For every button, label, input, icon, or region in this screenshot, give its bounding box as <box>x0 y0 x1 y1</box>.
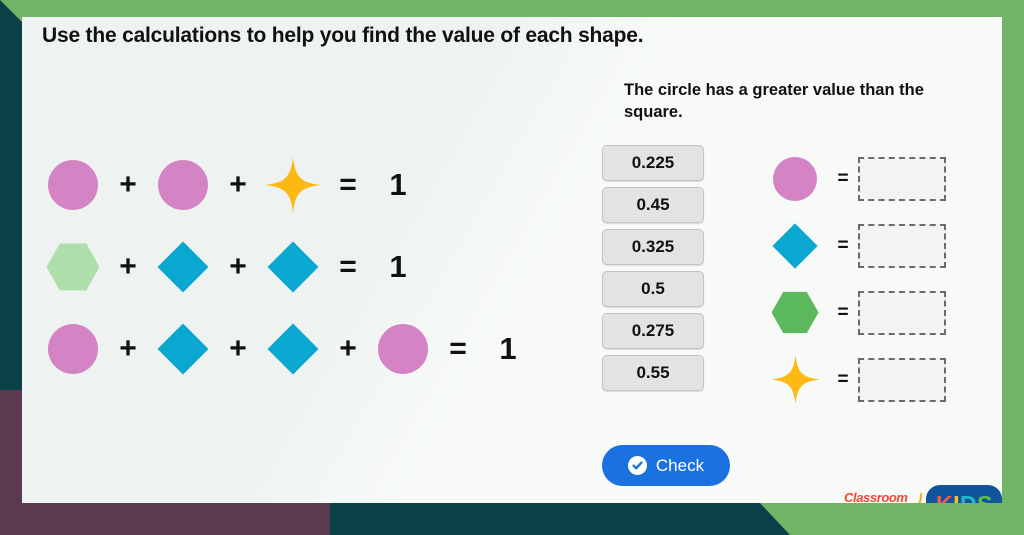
answer-row: = <box>762 346 946 413</box>
kids-letter-k: K <box>936 491 952 504</box>
equals-operator: = <box>828 235 858 257</box>
logo-group: Classroom secrets ✦ K I D S <box>842 485 1002 503</box>
answer-row: = <box>762 145 946 212</box>
answer-drop-box[interactable] <box>858 157 946 201</box>
answer-row: = <box>762 212 946 279</box>
circle-shape <box>158 160 208 210</box>
plus-operator: + <box>106 252 150 282</box>
diamond-shape <box>165 249 201 285</box>
equation-result: 1 <box>370 167 426 203</box>
number-tile[interactable]: 0.275 <box>602 313 704 349</box>
equation-term <box>150 316 216 382</box>
answer-shape <box>762 283 828 343</box>
equation-row: ++=1 <box>40 226 620 308</box>
classroom-secrets-logo: Classroom secrets ✦ <box>842 487 920 503</box>
plus-operator: + <box>216 334 260 364</box>
star-shape <box>771 355 820 404</box>
circle-shape <box>48 160 98 210</box>
number-tile[interactable]: 0.45 <box>602 187 704 223</box>
answer-drop-box[interactable] <box>858 291 946 335</box>
diamond-shape <box>779 230 811 262</box>
plus-operator: + <box>326 334 370 364</box>
number-tile[interactable]: 0.55 <box>602 355 704 391</box>
activity-card: Use the calculations to help you find th… <box>22 17 1002 503</box>
star-shape <box>265 157 321 213</box>
kids-letter-i: I <box>953 491 959 504</box>
diamond-shape <box>275 331 311 367</box>
check-circle-icon <box>628 456 647 475</box>
equals-operator: = <box>436 334 480 364</box>
page-title: Use the calculations to help you find th… <box>42 24 643 48</box>
diamond-shape <box>165 331 201 367</box>
number-tile[interactable]: 0.325 <box>602 229 704 265</box>
equation-term <box>260 152 326 218</box>
equals-operator: = <box>828 168 858 190</box>
equals-operator: = <box>326 252 370 282</box>
equation-result: 1 <box>480 331 536 367</box>
check-button[interactable]: Check <box>602 445 730 486</box>
slide-frame: Use the calculations to help you find th… <box>0 0 1024 535</box>
plus-operator: + <box>106 334 150 364</box>
answer-drop-box[interactable] <box>858 224 946 268</box>
equation-term <box>370 316 436 382</box>
number-tile[interactable]: 0.5 <box>602 271 704 307</box>
kids-letter-s: S <box>977 491 992 504</box>
equation-term <box>260 316 326 382</box>
frame-band-teal-bottom <box>330 503 790 535</box>
check-button-label: Check <box>656 456 704 476</box>
diamond-shape <box>275 249 311 285</box>
circle-shape <box>773 157 817 201</box>
kids-letter-d: D <box>960 491 976 504</box>
equation-term <box>40 152 106 218</box>
equals-operator: = <box>828 369 858 391</box>
plus-operator: + <box>216 170 260 200</box>
hexagon-shape <box>47 242 100 292</box>
equation-term <box>150 152 216 218</box>
number-tiles-list: 0.2250.450.3250.50.2750.55 <box>602 145 710 397</box>
circle-shape <box>48 324 98 374</box>
equation-term <box>40 234 106 300</box>
equation-result: 1 <box>370 249 426 285</box>
answer-shape <box>762 350 828 410</box>
equation-row: ++=1 <box>40 144 620 226</box>
answer-shape <box>762 216 828 276</box>
plus-operator: + <box>106 170 150 200</box>
equals-operator: = <box>828 302 858 324</box>
plus-operator: + <box>216 252 260 282</box>
answer-key-panel: ==== <box>762 145 946 413</box>
kids-logo: K I D S <box>926 485 1002 503</box>
hexagon-shape <box>772 291 819 335</box>
equation-term <box>150 234 216 300</box>
equations-panel: ++=1++=1+++=1 <box>40 144 620 390</box>
answer-shape <box>762 149 828 209</box>
equation-row: +++=1 <box>40 308 620 390</box>
equation-term <box>40 316 106 382</box>
equation-term <box>260 234 326 300</box>
answer-row: = <box>762 279 946 346</box>
answer-drop-box[interactable] <box>858 358 946 402</box>
hint-text: The circle has a greater value than the … <box>624 79 954 124</box>
classroom-secrets-line1: Classroom <box>844 490 908 503</box>
number-tile[interactable]: 0.225 <box>602 145 704 181</box>
circle-shape <box>378 324 428 374</box>
equals-operator: = <box>326 170 370 200</box>
